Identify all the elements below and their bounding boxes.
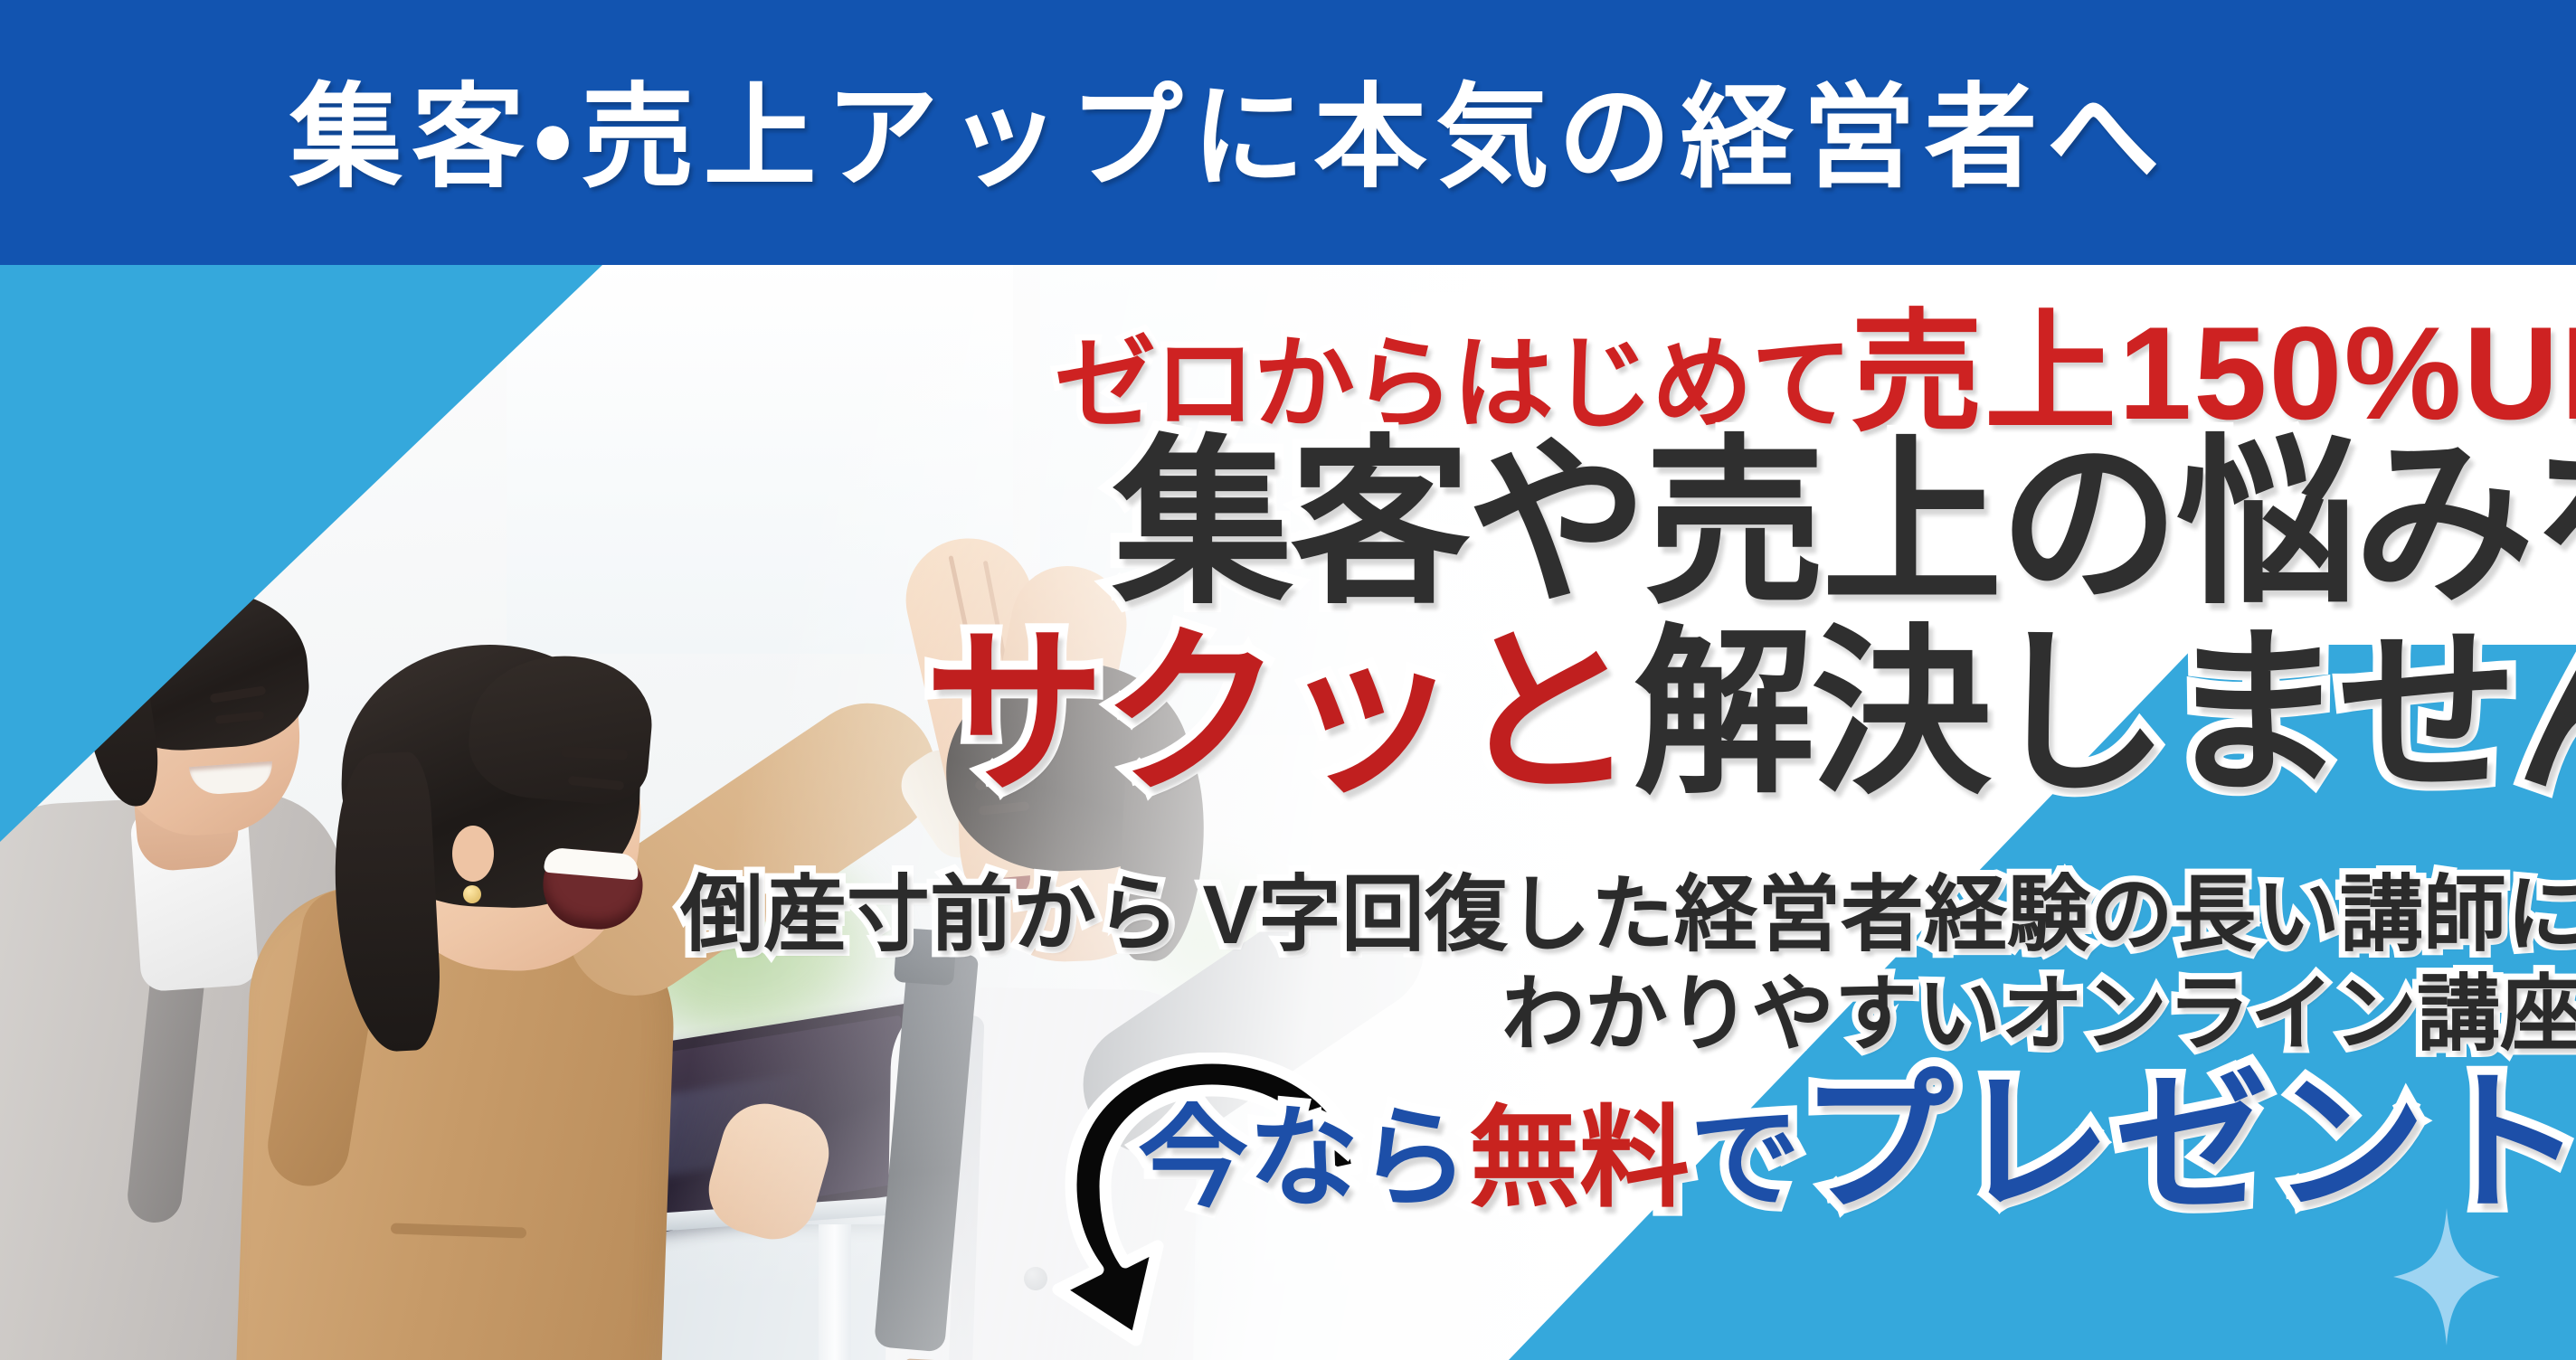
cta-line: 今なら無料でプレゼント！: [1138, 1067, 2576, 1221]
headline-line-2: サクッと解決しませんか?: [924, 624, 2576, 805]
subcopy-line-2: わかりやすいオンライン講座を: [1501, 973, 2576, 1056]
header-band: 集客・売上アップに本気の経営者へ: [0, 0, 2576, 265]
cta-part-1: 今なら: [1138, 1097, 1469, 1220]
headline-line-1: 集客や売上の悩みを: [1113, 434, 2576, 615]
cta-part-2: 無料: [1469, 1097, 1690, 1220]
headline-line-2-black: 解決しませんか?: [1634, 613, 2576, 815]
cta-part-4: プレゼント！: [1800, 1058, 2576, 1230]
subcopy-line-1: 倒産寸前から V字回復した経営者経験の長い講師による: [680, 874, 2576, 957]
header-title: 集客・売上アップに本気の経営者へ: [289, 5, 2169, 270]
cta-part-3: で: [1690, 1097, 1800, 1220]
kicker-line: ゼロからはじめて売上150%UP！: [1055, 307, 2576, 439]
headline-line-2-red: サクッと: [924, 613, 1634, 815]
marketing-banner: 集客・売上アップに本気の経営者へ ゼロからはじめて売上150%UP！ 集客や売上…: [0, 0, 2576, 1360]
